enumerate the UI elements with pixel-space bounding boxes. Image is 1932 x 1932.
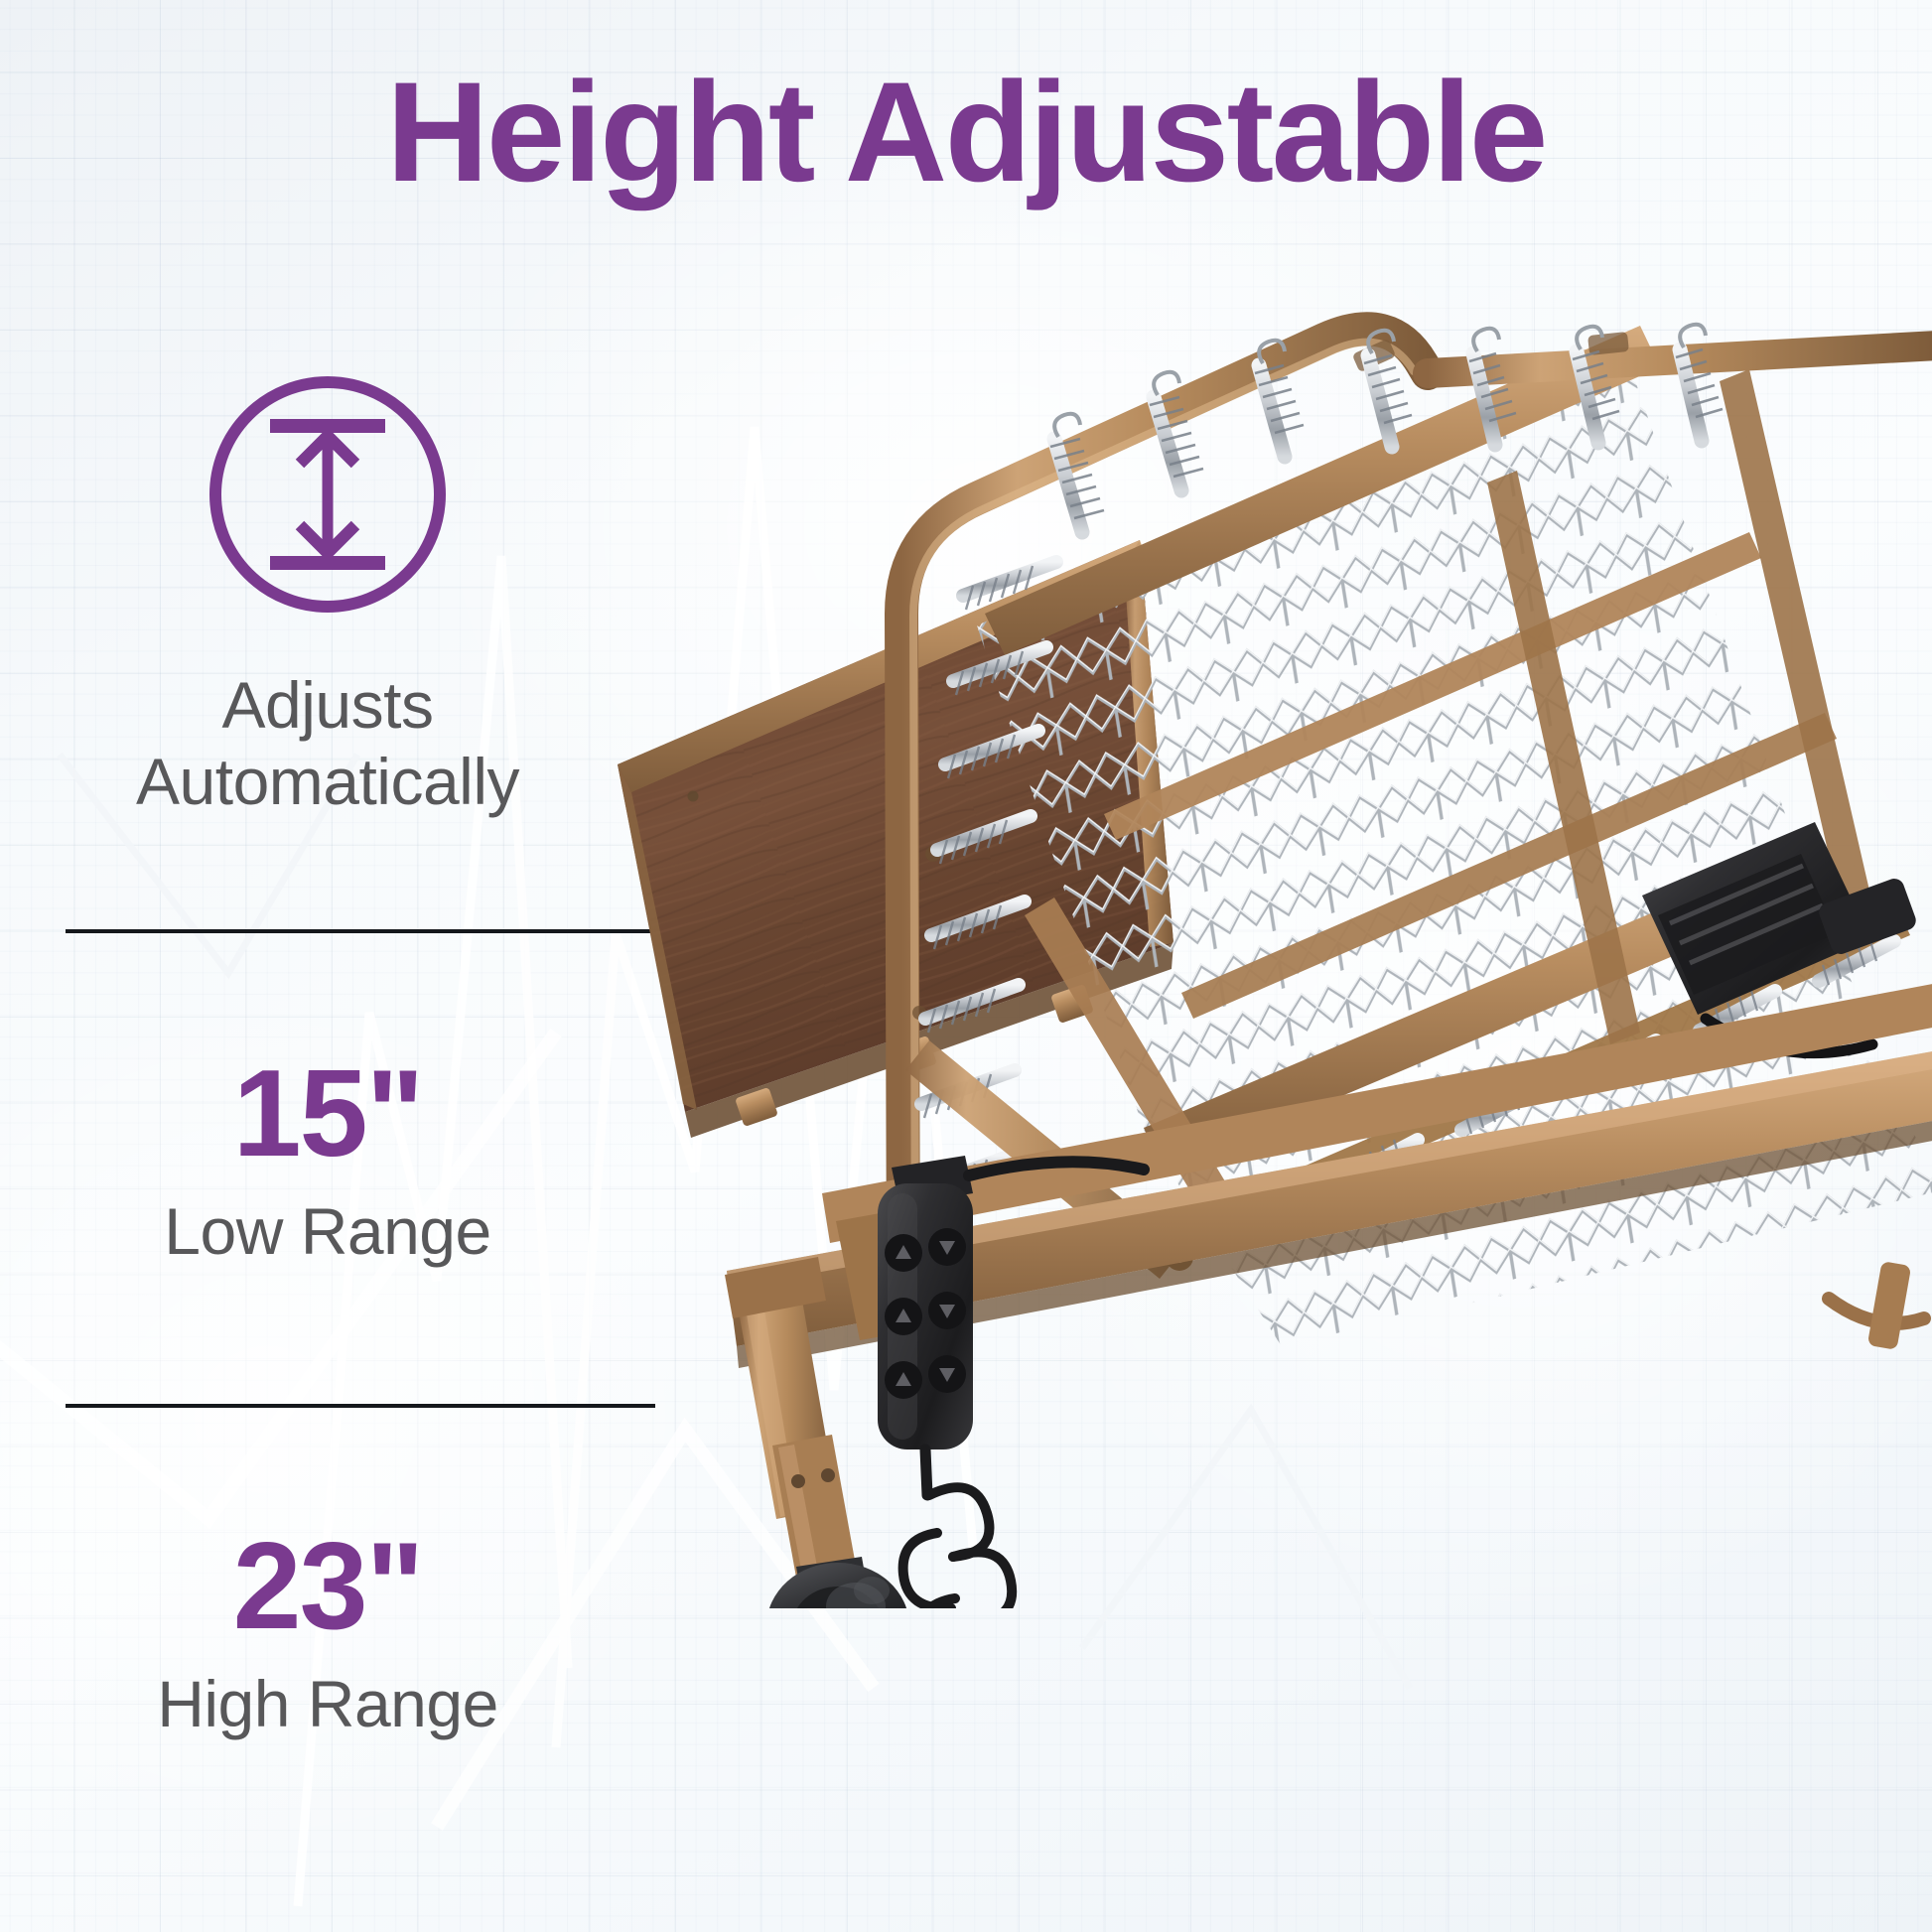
page-title: Height Adjustable: [0, 58, 1932, 208]
lift-motor-actuator: [1642, 822, 1919, 1053]
feature-icon-wrap: [0, 367, 655, 621]
stat-label-high: High Range: [0, 1668, 655, 1740]
stat-label-low: Low Range: [0, 1195, 655, 1268]
stat-block-low-range: 15" Low Range: [0, 1052, 655, 1268]
hand-remote-control: [878, 1156, 1144, 1449]
extension-springs: [917, 325, 1894, 1235]
remote-buttons: [885, 1228, 966, 1399]
backrest-bow-frame: [901, 324, 1932, 1307]
product-photo-bed: [588, 298, 1932, 1608]
base-frame: [727, 983, 1932, 1368]
coiled-remote-cord: [903, 1449, 1046, 1608]
height-adjust-icon: [201, 367, 455, 621]
background-glow-mid: [973, 536, 1932, 1628]
feature-caption-line-1: Adjusts: [58, 667, 598, 744]
stat-value-low: 15": [0, 1052, 655, 1175]
caster-wheel: [766, 1557, 909, 1608]
stat-block-high-range: 23" High Range: [0, 1525, 655, 1740]
wood-headboard-panel: [588, 496, 1283, 1172]
telescoping-leg: [725, 1257, 858, 1588]
wire-spring-deck: [945, 318, 1932, 1390]
feature-caption: Adjusts Automatically: [0, 667, 655, 819]
stat-value-high: 23": [0, 1525, 655, 1648]
bronze-tube-frame: [985, 326, 1910, 1201]
divider-upper: [66, 929, 655, 933]
right-frame-details: [1829, 1261, 1924, 1350]
feature-column: Adjusts Automatically 15" Low Range 23" …: [0, 367, 655, 819]
infographic-canvas: Height Adjustable Adjusts Automatically …: [0, 0, 1932, 1932]
feature-caption-line-2: Automatically: [58, 744, 598, 820]
divider-lower: [66, 1404, 655, 1408]
support-linkage: [905, 897, 1231, 1279]
